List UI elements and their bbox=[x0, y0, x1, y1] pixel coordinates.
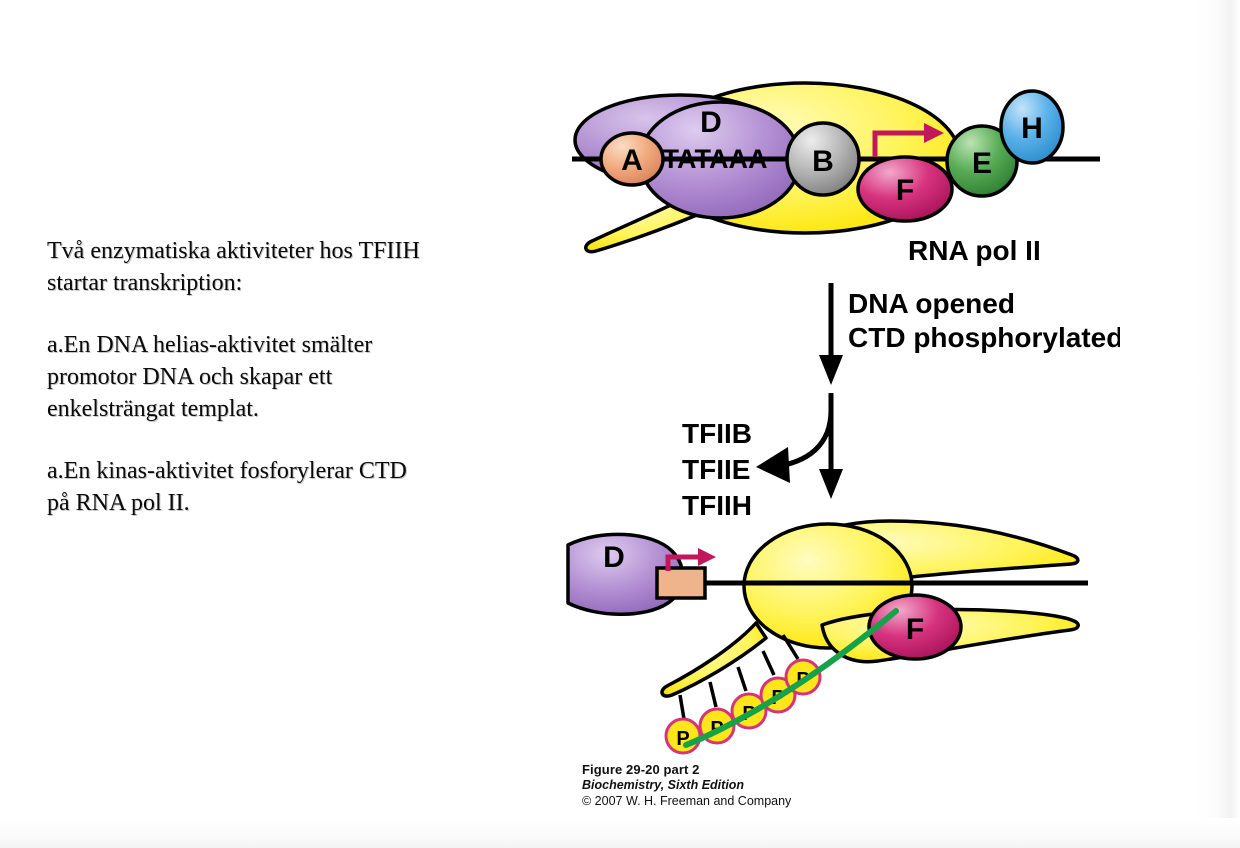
released-factor-2: TFIIE bbox=[682, 454, 750, 485]
text-line-2: startar transkription: bbox=[47, 267, 517, 299]
text-spacer-1 bbox=[47, 299, 517, 329]
factor-f-label-bottom: F bbox=[906, 613, 924, 646]
bullet-a1-line-1: a.En DNA helias-aktivitet smälter bbox=[47, 329, 517, 361]
slide-canvas: Två enzymatiska aktiviteter hos TFIIH st… bbox=[0, 0, 1240, 848]
promoter-box bbox=[657, 568, 705, 598]
bullet-a2-line-1: a.En kinas-aktivitet fosforylerar CTD bbox=[47, 455, 517, 487]
factor-e-label: E bbox=[972, 147, 992, 180]
caption-line-3: © 2007 W. H. Freeman and Company bbox=[582, 794, 791, 808]
slide-right-edge-shadow bbox=[1196, 0, 1240, 848]
slide-body-text: Två enzymatiska aktiviteter hos TFIIH st… bbox=[47, 235, 517, 519]
caption-line-2: Biochemistry, Sixth Edition bbox=[582, 778, 791, 792]
bullet-a1-line-2: promotor DNA och skapar ett bbox=[47, 361, 517, 393]
factor-a-label: A bbox=[621, 144, 643, 177]
transition-arrow-1-head bbox=[819, 355, 843, 385]
bullet-a2-line-2: på RNA pol II. bbox=[47, 487, 517, 519]
phosphate-stalk bbox=[710, 682, 716, 707]
bullet-a1-line-3: enkelsträngat templat. bbox=[47, 393, 517, 425]
factor-d-label: D bbox=[700, 106, 722, 139]
dna-opened-line-2: CTD phosphorylated bbox=[848, 322, 1120, 353]
transcription-start-arrowhead-bottom bbox=[698, 548, 716, 566]
figure-panel: TATAAA A D B F E H bbox=[560, 55, 1120, 825]
caption-line-1: Figure 29-20 part 2 bbox=[582, 762, 791, 777]
bottom-complex-panel: D F P bbox=[568, 521, 1088, 753]
top-complex-panel: TATAAA A D B F E H bbox=[572, 83, 1100, 266]
transcription-diagram: TATAAA A D B F E H bbox=[560, 55, 1120, 755]
figure-caption: Figure 29-20 part 2 Biochemistry, Sixth … bbox=[582, 762, 791, 808]
tata-box-label: TATAAA bbox=[663, 144, 768, 174]
factor-d-label-bottom: D bbox=[603, 541, 625, 574]
release-arrow-head bbox=[756, 447, 790, 483]
released-factor-1: TFIIB bbox=[682, 418, 752, 449]
dna-opened-line-1: DNA opened bbox=[848, 288, 1015, 319]
ctd-tail-bottom bbox=[662, 623, 766, 696]
phosphate-stalk bbox=[763, 651, 774, 675]
phosphate-stalk bbox=[680, 695, 684, 719]
factor-f-label: F bbox=[896, 174, 914, 207]
factor-b-label: B bbox=[812, 145, 834, 178]
text-spacer-2 bbox=[47, 425, 517, 455]
transition-arrow-2-head bbox=[819, 469, 843, 499]
released-factor-3: TFIIH bbox=[682, 490, 752, 521]
rna-pol-ii-label: RNA pol II bbox=[908, 235, 1041, 266]
text-line-1: Två enzymatiska aktiviteter hos TFIIH bbox=[47, 235, 517, 267]
phosphate-stalk bbox=[738, 667, 746, 691]
factor-h-label: H bbox=[1021, 112, 1043, 145]
transition-group: DNA opened CTD phosphorylated TFIIB TFII… bbox=[682, 283, 1120, 521]
